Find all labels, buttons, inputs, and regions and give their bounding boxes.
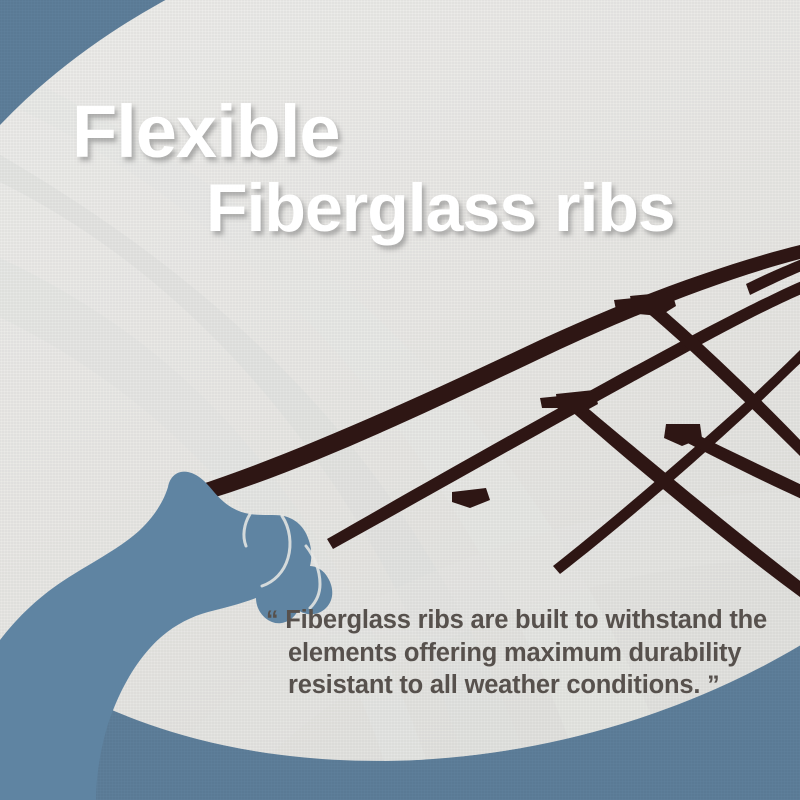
- quote-line-2: elements offering maximum durability: [266, 637, 782, 669]
- rib-main: [196, 244, 800, 500]
- quote-line-3: resistant to all weather conditions. ”: [266, 669, 782, 702]
- rib-joint-low-cross: [452, 488, 490, 508]
- quote-line-1-text: Fiberglass ribs are built to withstand t…: [285, 606, 767, 634]
- rib-joint-upper-tab: [614, 298, 636, 310]
- quote-close-mark: ”: [707, 671, 719, 699]
- quote-line-3-text: resistant to all weather conditions.: [288, 671, 700, 699]
- rib-joint-lower: [556, 390, 598, 414]
- poster-canvas: Flexible Fiberglass ribs “ Fiberglass ri…: [0, 0, 800, 800]
- rib-joint-lower-tab: [540, 396, 562, 408]
- quote-line-1: “ Fiberglass ribs are built to withstand…: [266, 604, 782, 637]
- rib-joint-upper: [630, 292, 676, 316]
- rib-mid-diagonal: [553, 346, 800, 574]
- quote-open-mark: “: [266, 606, 278, 634]
- quote-block: “ Fiberglass ribs are built to withstand…: [266, 604, 782, 701]
